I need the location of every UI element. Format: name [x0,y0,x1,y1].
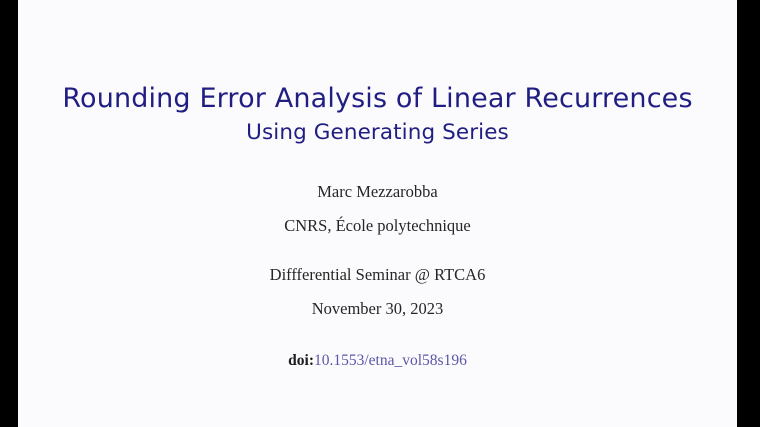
letterbox-bar-right [737,0,760,427]
title-block: Rounding Error Analysis of Linear Recurr… [18,84,737,145]
author-block: Marc Mezzarobba CNRS, École polytechniqu… [18,182,737,236]
doi-block[interactable]: doi:10.1553/etna_vol58s196 [18,352,737,371]
presentation-slide: Rounding Error Analysis of Linear Recurr… [18,0,737,427]
letterbox-bar-left [0,0,18,427]
slide-content: Rounding Error Analysis of Linear Recurr… [18,0,737,370]
slide-title-line-1: Rounding Error Analysis of Linear Recurr… [18,84,737,114]
doi-link[interactable]: 10.1553/etna_vol58s196 [314,352,467,369]
video-frame: Rounding Error Analysis of Linear Recurr… [0,0,760,427]
author-name: Marc Mezzarobba [18,182,737,202]
slide-title-line-2: Using Generating Series [18,121,737,146]
event-date: November 30, 2023 [18,299,737,319]
doi-prefix-label: doi: [288,352,314,369]
event-block: Diffferential Seminar @ RTCA6 November 3… [18,265,737,319]
event-name: Diffferential Seminar @ RTCA6 [18,265,737,285]
author-affiliation: CNRS, École polytechnique [18,216,737,236]
